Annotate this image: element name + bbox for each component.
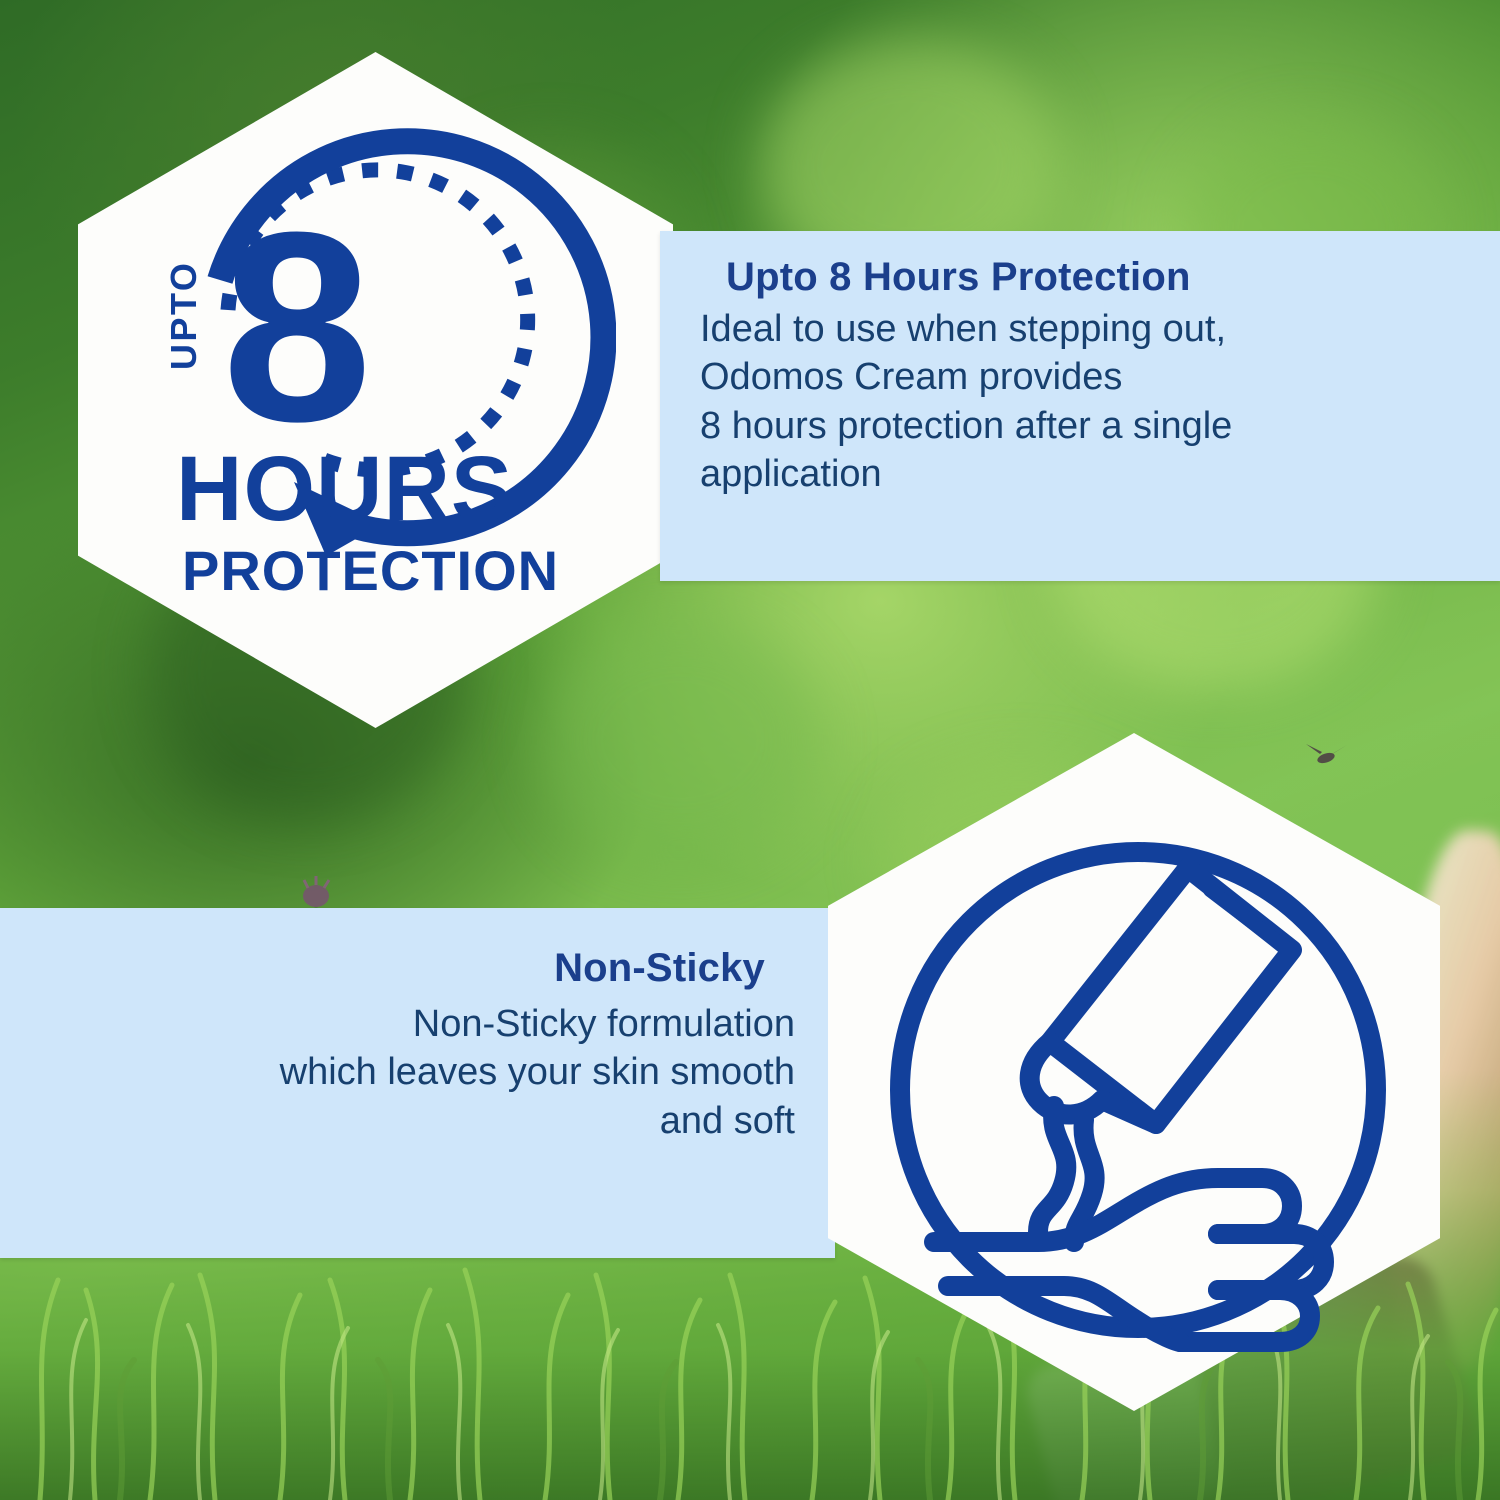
non-sticky-panel-body: Non-Sticky formulation which leaves your… (40, 1000, 795, 1145)
mosquito-icon (1302, 736, 1350, 776)
upto-8-hours-protection-icon: UPTO 8 HOURS PROTECTION (136, 120, 616, 630)
badge-upto-label: UPTO (163, 261, 204, 370)
badge-hours-label: HOURS (176, 438, 513, 540)
protection-text-panel: Upto 8 Hours Protection Ideal to use whe… (660, 231, 1500, 581)
protection-panel-body: Ideal to use when stepping out, Odomos C… (700, 305, 1456, 498)
badge-number: 8 (222, 177, 372, 478)
non-sticky-panel-title: Non-Sticky (40, 946, 765, 990)
cream-tube-on-hand-icon (888, 790, 1388, 1360)
badge-protection-label: PROTECTION (182, 539, 559, 602)
product-feature-graphic: UPTO 8 HOURS PROTECTION Upto 8 Hours Pro… (0, 0, 1500, 1500)
non-sticky-text-panel: Non-Sticky Non-Sticky formulation which … (0, 908, 835, 1258)
protection-panel-title: Upto 8 Hours Protection (726, 255, 1456, 299)
